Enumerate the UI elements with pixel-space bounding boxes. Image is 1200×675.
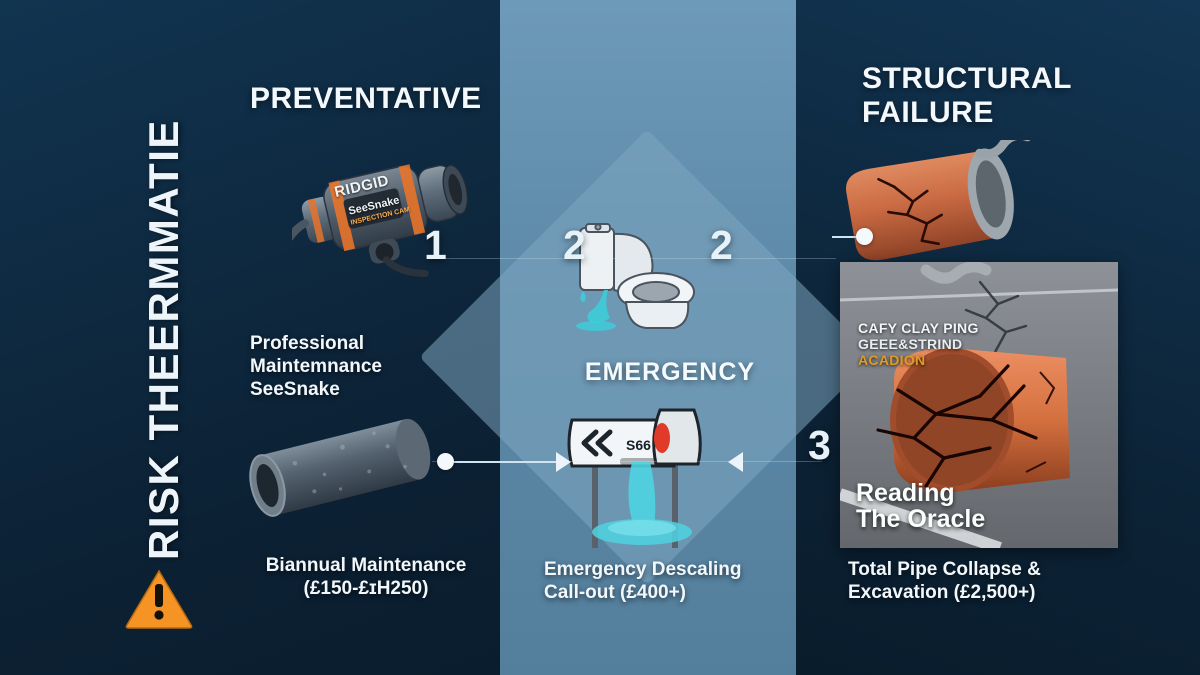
step-marker-2a: 2 — [563, 222, 586, 269]
step-marker-1: 1 — [424, 222, 447, 269]
cracked-pipe-icon — [842, 140, 1072, 268]
step-marker-3: 3 — [808, 422, 831, 469]
connector-dot-right — [856, 228, 873, 245]
caption-biannual-maintenance: Biannual Maintenance (£150-£ɪH250) — [236, 554, 496, 600]
photo-brand-watermark: Reading The Oracle — [856, 480, 985, 533]
label-emergency: EMERGENCY — [560, 358, 780, 387]
clean-pipe-icon — [236, 408, 448, 532]
caption-emergency-descaling: Emergency Descaling Call-out (£400+) — [544, 558, 794, 604]
page-title-vertical: RISK THEERMMATIE — [140, 120, 188, 560]
connector-rule-top — [432, 258, 836, 259]
photo-overlay-line2: GEEE&STRIND — [858, 336, 962, 352]
step-marker-2b: 2 — [710, 222, 733, 269]
arrow-left-icon — [728, 452, 743, 472]
connector-dot-left — [437, 453, 454, 470]
seesnake-camera-icon — [292, 138, 488, 298]
connector-line-left-middle — [454, 461, 558, 463]
road-sign-code-label: S66 — [626, 437, 651, 453]
caption-total-pipe-collapse: Total Pipe Collapse & Excavation (£2,500… — [848, 558, 1118, 604]
infographic-canvas: RISK THEERMMATIE PREVENTATIVE — [0, 0, 1200, 675]
column-header-preventative: PREVENTATIVE — [250, 82, 482, 116]
warning-triangle-icon — [124, 568, 194, 630]
caption-professional-maintenance: Professional Maintemnance SeeSnake — [250, 332, 490, 402]
leaking-toilet-icon — [570, 222, 710, 352]
arrow-right-icon — [556, 452, 571, 472]
column-header-structural-failure: STRUCTURAL FAILURE — [862, 62, 1142, 129]
cracked-pipe-photo-card: CAFY CLAY PING GEEE&STRIND ACADION Readi… — [840, 262, 1118, 548]
photo-overlay-line1: CAFY CLAY PING — [858, 320, 979, 336]
photo-overlay-line3: ACADION — [858, 352, 925, 368]
flooded-road-sign-icon — [562, 404, 740, 554]
